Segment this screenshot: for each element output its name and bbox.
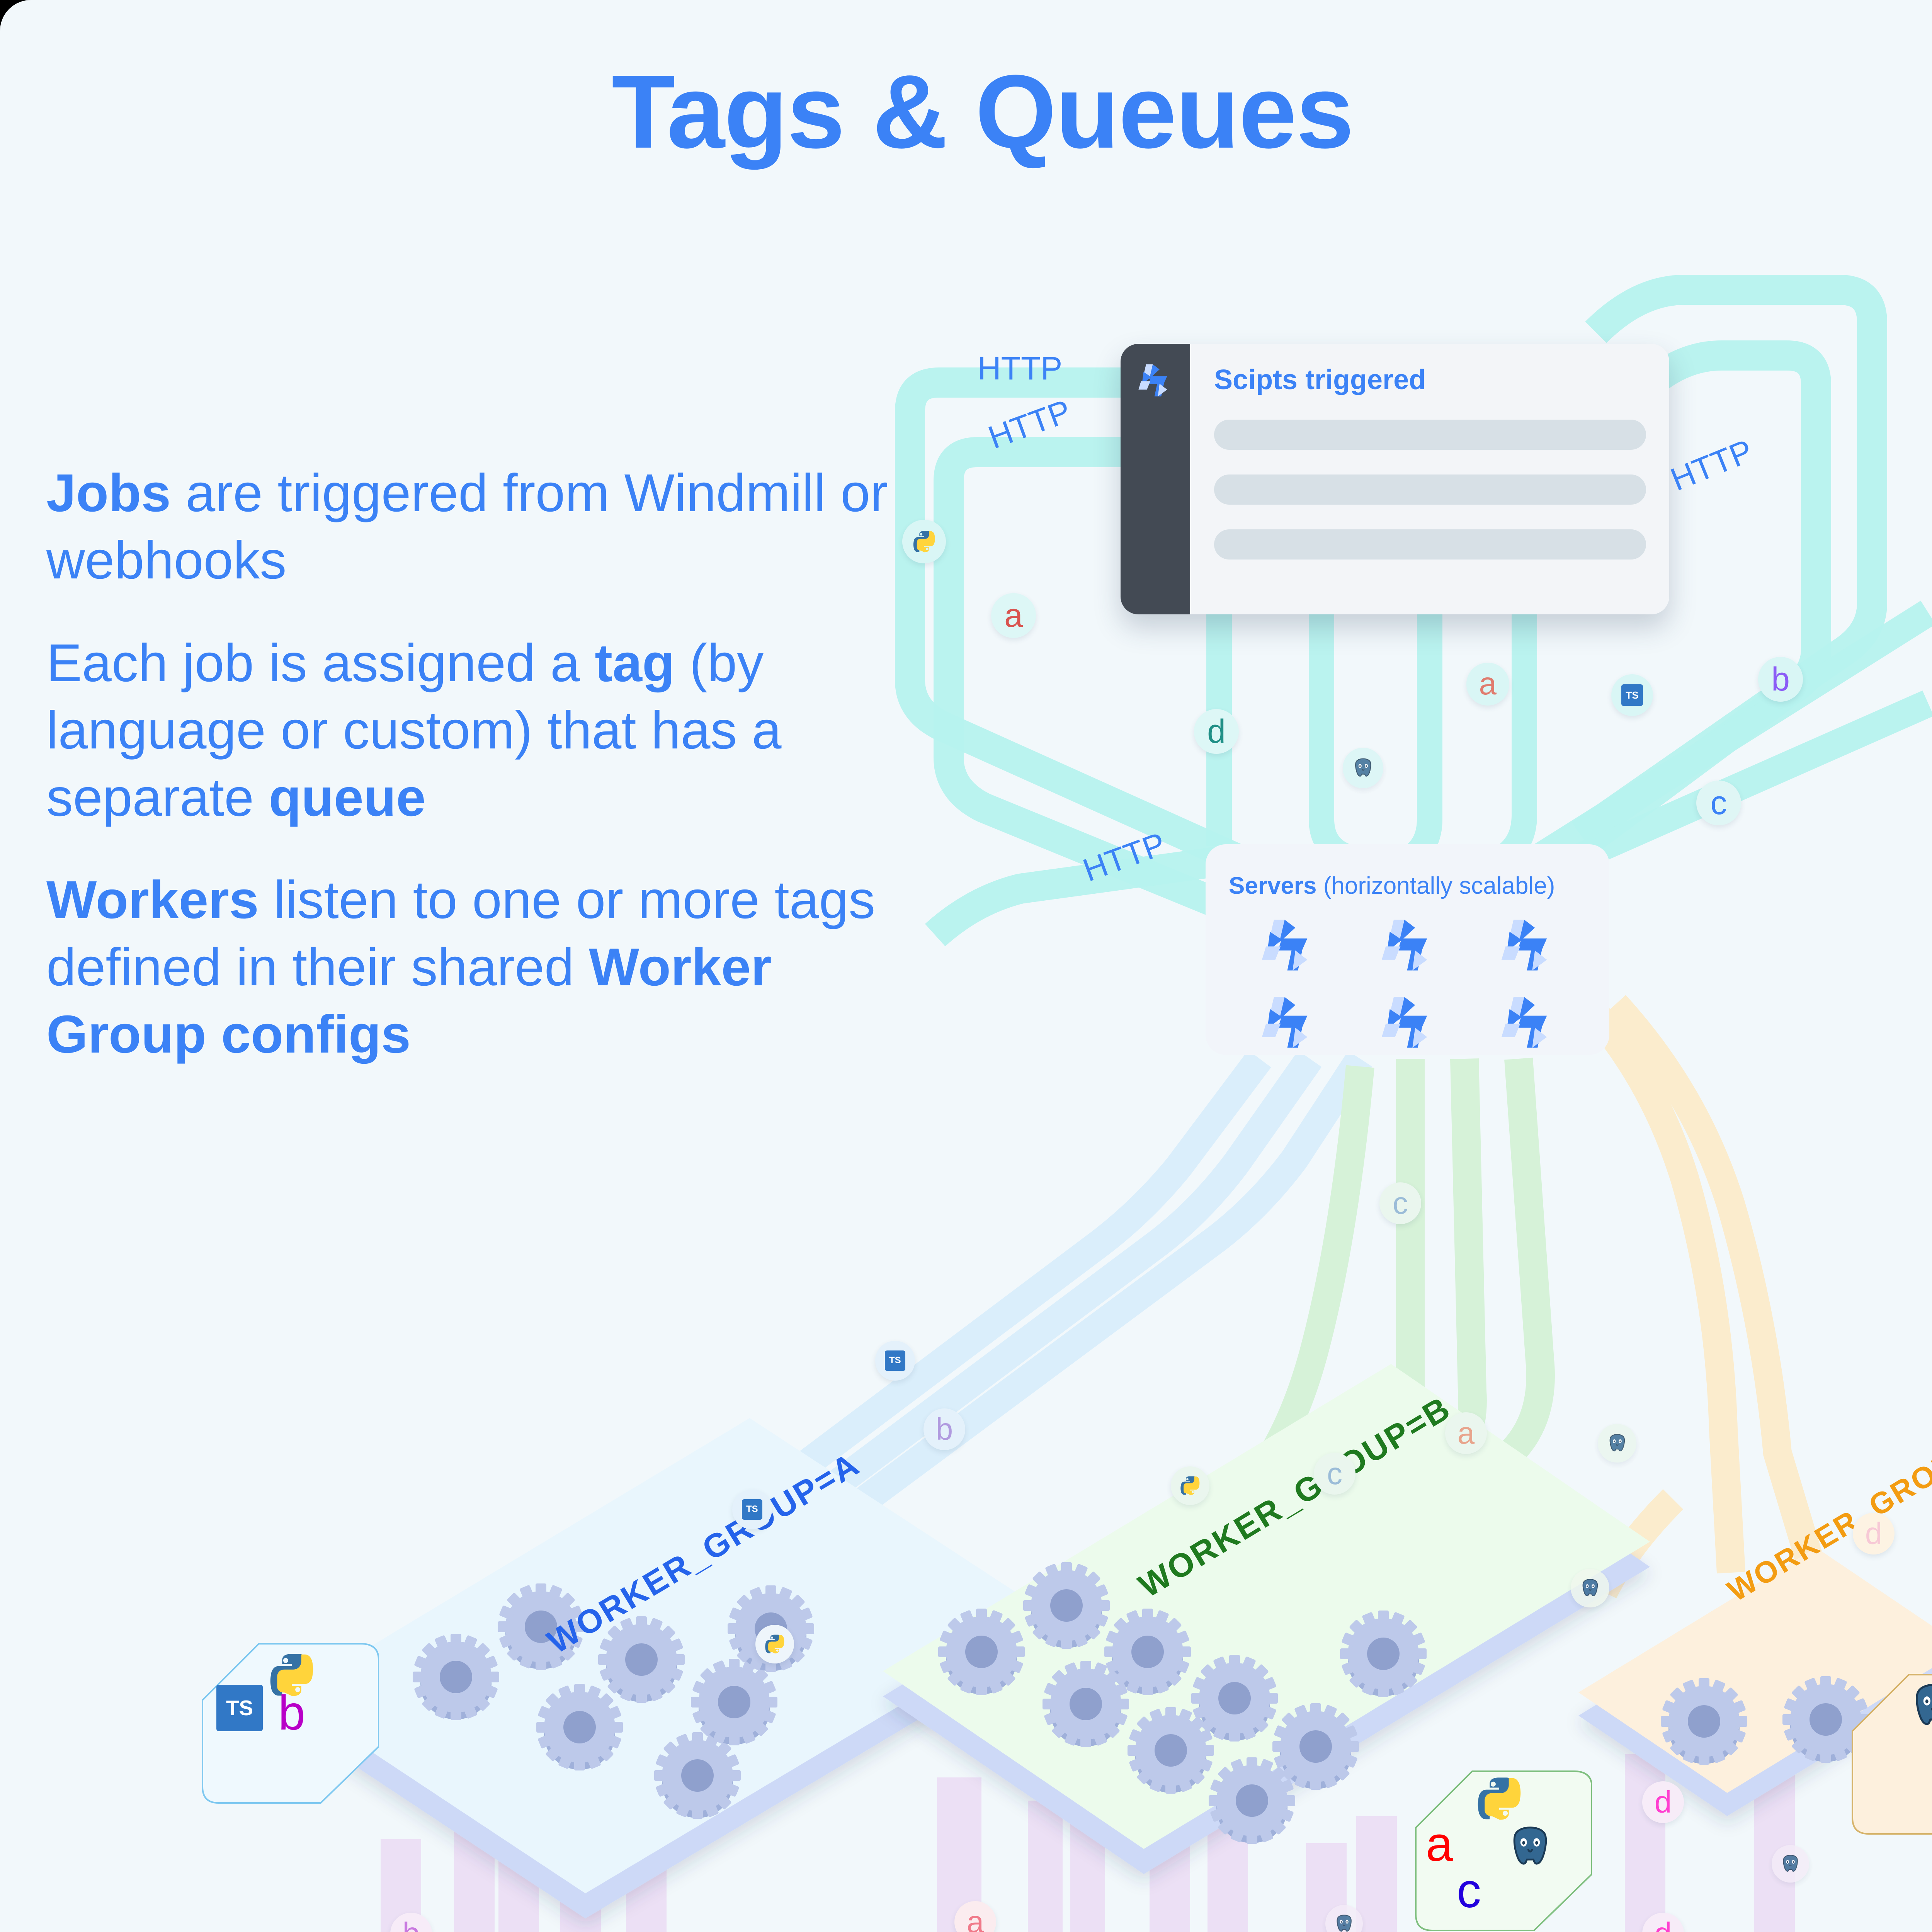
worker-group-label-c: WORKER_GROUP=C (1721, 1411, 1932, 1609)
badge-b-2: b (923, 1408, 965, 1450)
tag-card-c[interactable]: d (1851, 1673, 1932, 1835)
gear (1661, 1678, 1747, 1765)
postgresql-icon (1607, 1433, 1628, 1454)
badge-pg-2 (1598, 1424, 1636, 1463)
gear (413, 1634, 499, 1720)
http-label: HTTP (1078, 825, 1170, 889)
http-label: HTTP (978, 350, 1062, 387)
text-tag-prefix: Each job is assigned a (46, 633, 595, 693)
http-label: HTTP (1665, 432, 1758, 498)
bold-queue: queue (269, 768, 425, 827)
skeleton-row (1214, 420, 1646, 450)
gear (1340, 1611, 1427, 1697)
description-block: Jobs are triggered from Windmill or webh… (46, 460, 889, 1104)
skeleton-row (1214, 474, 1646, 505)
tag-card-b[interactable]: ac (1414, 1770, 1592, 1932)
gear (1128, 1707, 1214, 1794)
badge-d-3: d (1642, 1781, 1684, 1823)
badge-pg-5 (1772, 1845, 1809, 1883)
servers-label-bold: Servers (1229, 872, 1317, 899)
python-icon (1179, 1475, 1201, 1497)
badge-ts: TS (1611, 674, 1653, 716)
paragraph-tag: Each job is assigned a tag (by language … (46, 630, 889, 832)
postgresql-icon (1507, 1824, 1553, 1872)
python-icon (1474, 1774, 1524, 1826)
python-icon (764, 1633, 786, 1655)
scripts-triggered-card[interactable]: Scipts triggered (1121, 344, 1669, 614)
badge-c-3: c (1314, 1453, 1355, 1495)
postgresql-icon (1909, 1681, 1932, 1731)
tag-card-a[interactable]: TSb (201, 1642, 379, 1804)
badge-b: b (1758, 657, 1803, 702)
paragraph-jobs: Jobs are triggered from Windmill or webh… (46, 460, 889, 594)
windmill-logo-icon (1493, 990, 1563, 1064)
badge-c-2: c (1379, 1182, 1421, 1224)
badge-b-3: b (390, 1913, 432, 1932)
diagram-canvas: Tags & Queues Jobs are triggered from Wi… (0, 0, 1932, 1932)
postgresql-icon (1334, 1913, 1354, 1932)
typescript-icon: TS (742, 1499, 762, 1520)
windmill-logo-icon (1254, 990, 1323, 1064)
badge-a-4: a (954, 1901, 996, 1932)
badge-python (902, 520, 946, 563)
postgresql-icon (1507, 1824, 1553, 1870)
paragraph-workers: Workers listen to one or more tags defin… (46, 867, 889, 1068)
postgresql-icon (1780, 1854, 1801, 1874)
gear (654, 1732, 741, 1819)
gear (691, 1659, 777, 1745)
python-icon (912, 529, 937, 554)
badge-pg-3 (1571, 1569, 1609, 1607)
gear (1272, 1703, 1359, 1790)
text-jobs-rest: are triggered from Windmill or webhooks (46, 463, 888, 590)
badge-c: c (1696, 781, 1741, 825)
badge-a-3: a (1445, 1412, 1487, 1454)
badge-python-2 (1171, 1466, 1209, 1505)
gear (1043, 1661, 1129, 1747)
gear (1023, 1562, 1110, 1649)
platform-worker-group-a (288, 1418, 1051, 1918)
card-body: Scipts triggered (1190, 344, 1669, 614)
badge-python-3 (755, 1625, 794, 1663)
badge-d-2: d (1853, 1513, 1895, 1554)
ribbon-group-c (1573, 989, 1812, 1592)
badge-a-2: a (1466, 663, 1509, 706)
servers-logo-grid (1229, 913, 1588, 1064)
http-label: HTTP (983, 392, 1076, 456)
badge-ts-3: TS (732, 1490, 772, 1529)
postgresql-icon (1909, 1681, 1932, 1733)
gear (1209, 1757, 1295, 1844)
worker-group-label-a: WORKER_GROUP=A (541, 1445, 866, 1661)
skeleton-row (1214, 529, 1646, 560)
typescript-icon: TS (1621, 684, 1643, 706)
servers-label-rest: (horizontally scalable) (1317, 872, 1555, 899)
typescript-icon: TS (885, 1350, 905, 1371)
bold-tag: tag (595, 633, 675, 693)
bold-jobs: Jobs (46, 463, 171, 523)
card-sidebar (1121, 344, 1190, 614)
bun-letter: b (278, 1689, 305, 1737)
badge-ts-2: TS (875, 1341, 915, 1381)
windmill-logo-icon (1493, 913, 1563, 986)
typescript-icon: TS (216, 1685, 263, 1731)
gear (1191, 1655, 1278, 1742)
badge-pg (1343, 748, 1383, 788)
typescript-icon: TS (216, 1685, 263, 1731)
windmill-logo-icon (1374, 990, 1443, 1064)
badge-a: a (991, 593, 1036, 638)
servers-label: Servers (horizontally scalable) (1229, 872, 1555, 900)
python-icon (1474, 1774, 1524, 1824)
gear (938, 1609, 1025, 1695)
windmill-logo-icon (1254, 913, 1323, 986)
card-title: Scipts triggered (1214, 364, 1646, 396)
gear (1104, 1609, 1191, 1695)
postgresql-icon (1580, 1578, 1601, 1599)
servers-box: Servers (horizontally scalable) (1206, 844, 1609, 1055)
badge-d: d (1194, 709, 1239, 754)
badge-d-4: d (1642, 1913, 1684, 1932)
windmill-logo-icon (1374, 913, 1443, 986)
tag-letter-c: c (1457, 1866, 1481, 1915)
tag-letter-a: a (1426, 1820, 1453, 1869)
page-title: Tags & Queues (0, 60, 1932, 164)
gear (536, 1684, 623, 1770)
bold-workers: Workers (46, 870, 259, 930)
badge-pg-4 (1325, 1905, 1363, 1932)
windmill-logo-icon (1134, 360, 1177, 406)
postgresql-icon (1352, 757, 1374, 779)
